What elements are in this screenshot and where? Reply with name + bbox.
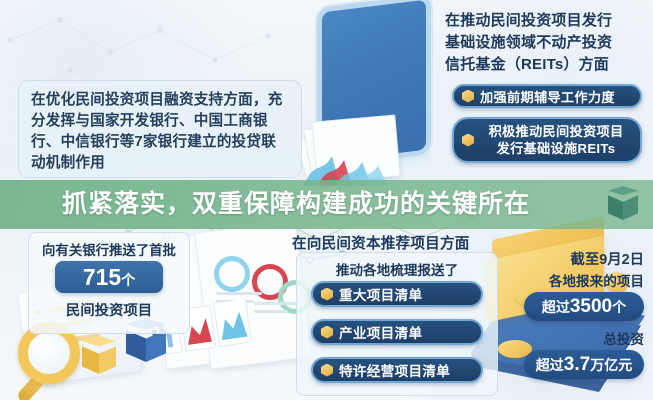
recommend-item-3[interactable]: 特许经营项目清单	[311, 357, 483, 383]
stats-badge-project-count: 超过3500个	[524, 292, 644, 321]
financing-support-text: 在优化民间投资项目融资支持方面，充分发挥与国家开发银行、中国工商银行、中信银行等…	[19, 81, 301, 174]
reits-item-1-label: 加强前期辅导工作力度	[480, 87, 615, 106]
recommend-item-2-label: 产业项目清单	[339, 322, 422, 342]
hexagon-bullet-icon	[321, 364, 333, 377]
reits-heading-line-3: 信托基金（REITs）方面	[445, 54, 645, 76]
stats-2-prefix: 超过	[536, 357, 564, 373]
reits-heading-line-1: 在推动民间投资项目发行	[445, 10, 645, 32]
stats-as-of-date: 截至9月2日	[570, 248, 644, 269]
reits-item-2-line-1: 积极推动民间投资项目	[480, 123, 632, 140]
first-batch-unit: 个	[121, 272, 135, 288]
stats-2-value: 3.7	[564, 354, 590, 375]
first-batch-value-box: 715个	[55, 261, 163, 293]
stats-1-prefix: 超过	[542, 299, 570, 315]
isometric-cube-teal-icon	[608, 186, 638, 220]
recommend-item-3-label: 特许经营项目清单	[339, 360, 450, 380]
stats-1-value: 3500	[570, 296, 612, 317]
reits-panel-heading: 在推动民间投资项目发行 基础设施领域不动产投资 信托基金（REITs）方面	[445, 10, 645, 76]
reits-item-2-line-2: 发行基础设施REITs	[480, 140, 632, 157]
reits-item-1[interactable]: 加强前期辅导工作力度	[452, 84, 642, 108]
reits-heading-line-2: 基础设施领域不动产投资	[445, 32, 645, 54]
recommend-item-2[interactable]: 产业项目清单	[311, 319, 483, 345]
stats-2-unit: 万亿元	[590, 357, 632, 373]
headline-band: 抓紧落实，双重保障构建成功的关键所在	[0, 180, 653, 229]
stats-caption-1: 各地报来的项目	[549, 270, 644, 290]
first-batch-projects-card: 向有关银行推送了首批 715个 民间投资项目	[28, 232, 190, 334]
project-totals-stats: 截至9月2日 各地报来的项目 超过3500个 总投资 超过3.7万亿元	[518, 248, 646, 394]
stats-1-unit: 个	[612, 299, 626, 315]
stats-caption-2: 总投资	[603, 328, 644, 348]
hexagon-bullet-icon	[462, 90, 474, 103]
isometric-cube-gold-icon	[82, 336, 116, 374]
recommend-item-1-label: 重大项目清单	[339, 284, 422, 304]
hexagon-bullet-icon	[462, 134, 474, 147]
infographic-canvas: 在优化民间投资项目融资支持方面，充分发挥与国家开发银行、中国工商银行、中信银行等…	[0, 0, 653, 400]
recommend-item-1[interactable]: 重大项目清单	[311, 281, 483, 307]
first-batch-top-label: 向有关银行推送了首批	[29, 239, 189, 259]
hexagon-bullet-icon	[321, 288, 333, 301]
hexagon-bullet-icon	[321, 326, 333, 339]
stats-badge-total-investment: 超过3.7万亿元	[524, 350, 644, 379]
recommend-projects-card: 推动各地梳理报送了 重大项目清单 产业项目清单 特许经营项目清单	[296, 252, 498, 396]
recommend-projects-subheading: 推动各地梳理报送了	[297, 259, 497, 279]
first-batch-bottom-label: 民间投资项目	[29, 299, 189, 320]
financing-support-panel: 在优化民间投资项目融资支持方面，充分发挥与国家开发银行、中国工商银行、中信银行等…	[18, 80, 302, 178]
recommend-projects-heading: 在向民间资本推荐项目方面	[292, 232, 470, 253]
reits-item-2[interactable]: 积极推动民间投资项目 发行基础设施REITs	[452, 117, 642, 163]
first-batch-value: 715	[83, 264, 121, 290]
page-title: 抓紧落实，双重保障构建成功的关键所在	[62, 188, 530, 221]
